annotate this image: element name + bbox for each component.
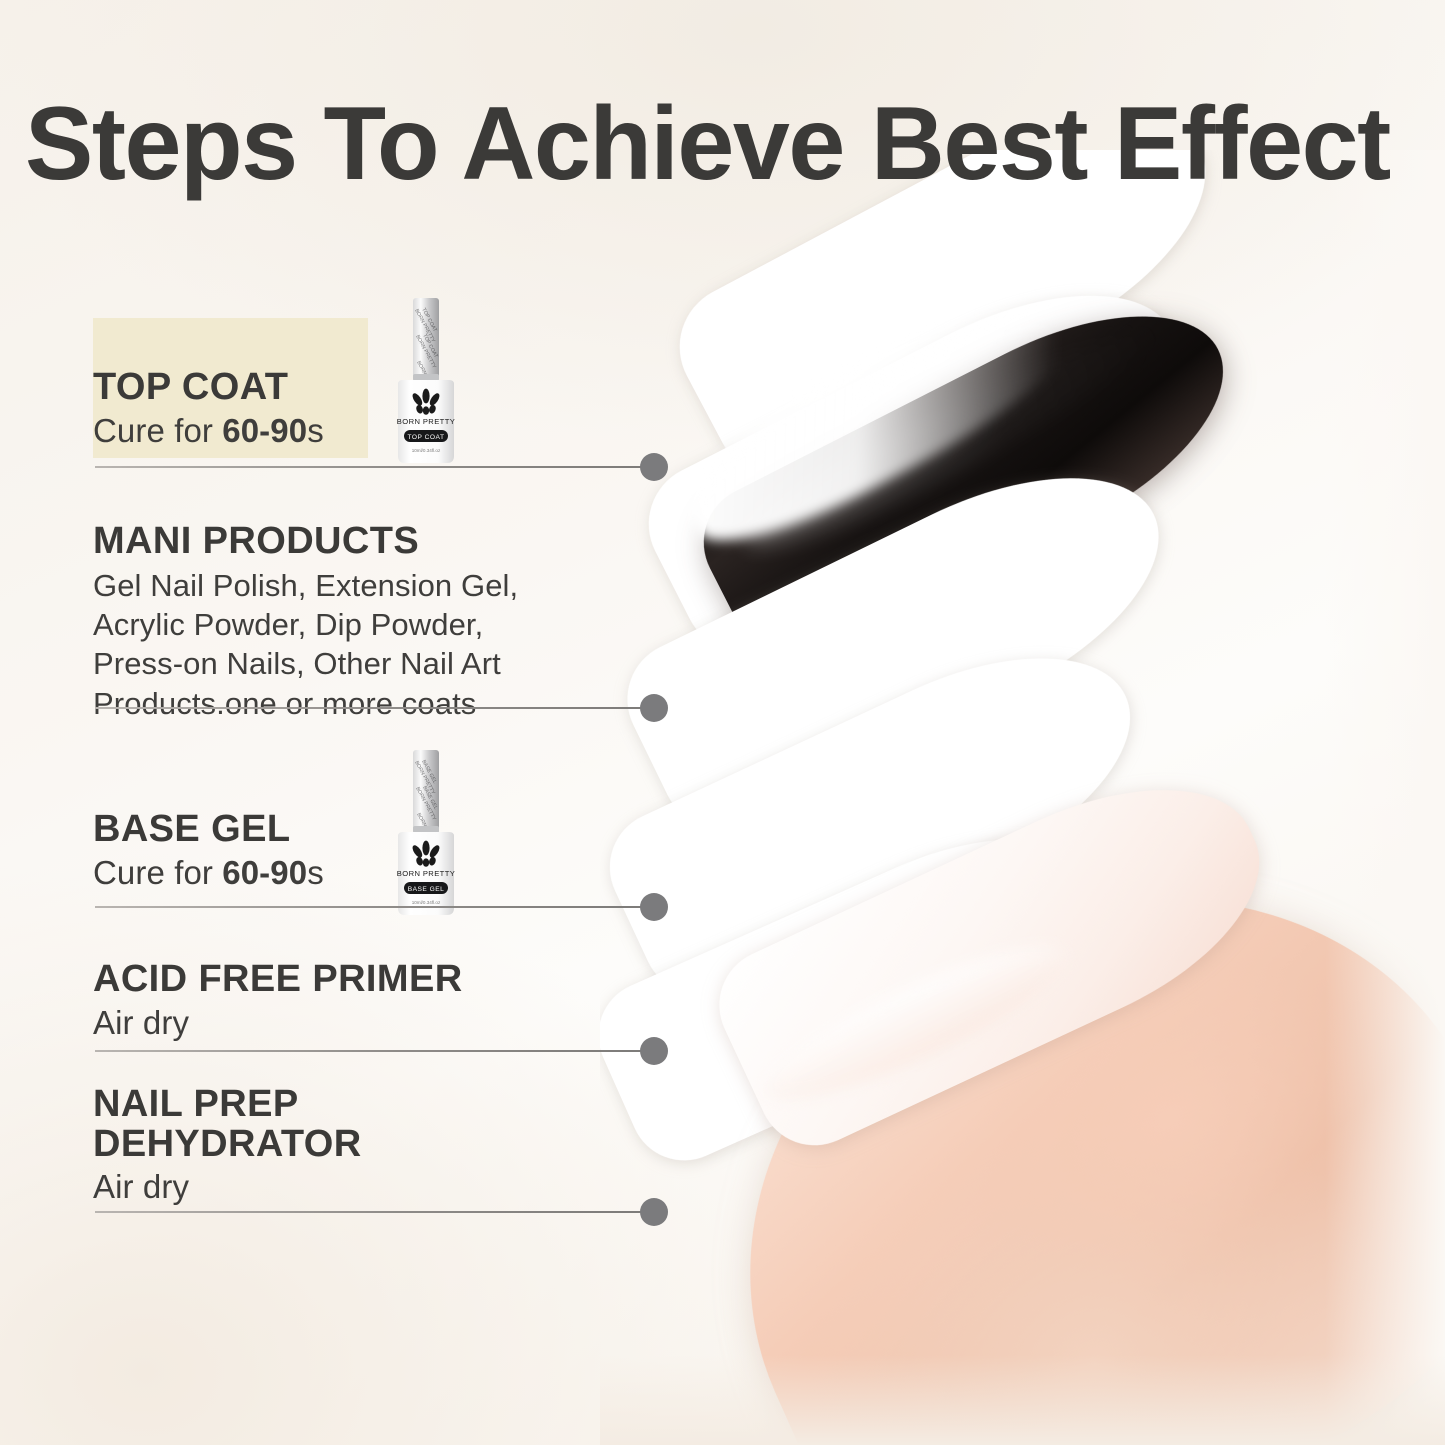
connector-dot bbox=[640, 453, 668, 481]
step-top-coat-subtext: Cure for 60-90s bbox=[93, 412, 324, 450]
body-line-3: Press-on Nails, Other Nail Art bbox=[93, 646, 501, 681]
connector-line bbox=[95, 906, 646, 908]
right-edge-fade bbox=[1325, 150, 1445, 1445]
svg-text:BASE GEL: BASE GEL bbox=[408, 886, 445, 893]
connector-dot bbox=[640, 1198, 668, 1226]
cure-duration: 60-90 bbox=[222, 412, 307, 449]
svg-text:BORN PRETTY: BORN PRETTY bbox=[397, 869, 455, 878]
connector-mani-products bbox=[95, 694, 650, 722]
step-base-gel-subtext: Cure for 60-90s bbox=[93, 854, 324, 892]
page-title: Steps To Achieve Best Effect bbox=[25, 92, 1390, 196]
connector-nail-prep-dehydrator bbox=[95, 1198, 650, 1226]
cure-suffix: s bbox=[307, 412, 324, 449]
step-mani-products: MANI PRODUCTS Gel Nail Polish, Extension… bbox=[93, 522, 518, 723]
connector-line bbox=[95, 1050, 646, 1052]
step-acid-free-primer: ACID FREE PRIMER Air dry bbox=[93, 960, 463, 1042]
body-line-1: Gel Nail Polish, Extension Gel, bbox=[93, 568, 518, 603]
connector-dot bbox=[640, 694, 668, 722]
step-mani-products-heading: MANI PRODUCTS bbox=[93, 522, 518, 562]
step-top-coat-heading: TOP COAT bbox=[93, 368, 324, 408]
heading-line-1: NAIL PREP bbox=[93, 1083, 299, 1125]
cure-prefix: Cure for bbox=[93, 412, 222, 449]
svg-text:BORN PRETTY: BORN PRETTY bbox=[397, 417, 455, 426]
infographic-canvas: Steps To Achieve Best Effect TOP COAT Cu… bbox=[0, 0, 1445, 1445]
connector-top-coat bbox=[95, 453, 650, 481]
cure-suffix: s bbox=[307, 854, 324, 891]
bottle-top-coat-icon: BORN PRETTY TOP COAT BORN PRETTY TOP COA… bbox=[382, 296, 470, 468]
step-base-gel: BASE GEL Cure for 60-90s bbox=[93, 810, 324, 892]
connector-line bbox=[95, 707, 646, 709]
body-line-2: Acrylic Powder, Dip Powder, bbox=[93, 607, 483, 642]
connector-acid-free-primer bbox=[95, 1037, 650, 1065]
nail-layers-photo bbox=[600, 150, 1445, 1445]
cure-prefix: Cure for bbox=[93, 854, 222, 891]
step-nail-prep-dehydrator: NAIL PREPDEHYDRATOR Air dry bbox=[93, 1085, 362, 1206]
step-top-coat: TOP COAT Cure for 60-90s bbox=[93, 368, 324, 450]
connector-line bbox=[95, 1211, 646, 1213]
svg-text:TOP COAT: TOP COAT bbox=[408, 434, 445, 441]
bottle-top-coat: BORN PRETTY TOP COAT BORN PRETTY TOP COA… bbox=[382, 296, 470, 468]
step-acid-free-primer-heading: ACID FREE PRIMER bbox=[93, 960, 463, 1000]
step-base-gel-heading: BASE GEL bbox=[93, 810, 324, 850]
connector-dot bbox=[640, 1037, 668, 1065]
heading-line-2: DEHYDRATOR bbox=[93, 1123, 362, 1165]
connector-dot bbox=[640, 893, 668, 921]
connector-line bbox=[95, 466, 646, 468]
connector-base-gel bbox=[95, 893, 650, 921]
bottom-edge-fade bbox=[600, 1355, 1445, 1445]
cure-duration: 60-90 bbox=[222, 854, 307, 891]
step-nail-prep-dehydrator-heading: NAIL PREPDEHYDRATOR bbox=[93, 1085, 362, 1164]
